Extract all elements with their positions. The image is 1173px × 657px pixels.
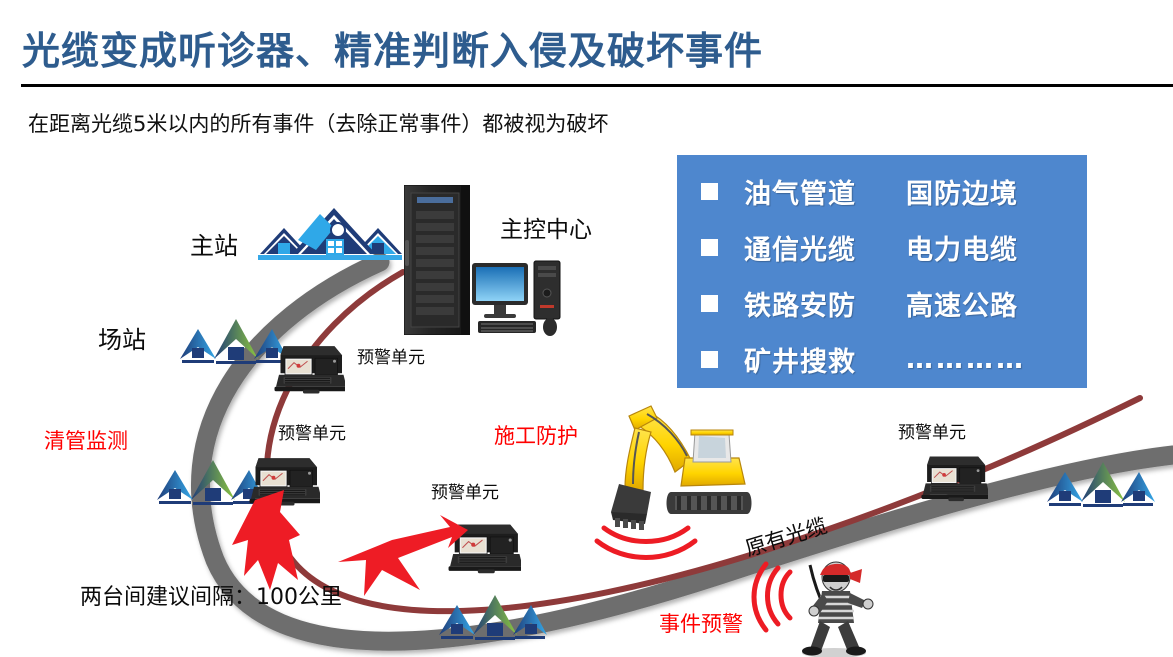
callout-row-2-left: 通信光缆 bbox=[744, 228, 890, 267]
callout-row-2-right: 电力电缆 bbox=[906, 228, 1018, 267]
label-warning-unit-2: 预警单元 bbox=[278, 419, 346, 444]
callout-row-2: 通信光缆 电力电缆 bbox=[677, 221, 1087, 273]
label-construction-protection: 施工防护 bbox=[494, 420, 578, 450]
label-master-station: 主站 bbox=[190, 226, 238, 261]
red-arrow-icon-center bbox=[338, 515, 468, 596]
label-pigging-monitor: 清管监测 bbox=[44, 425, 128, 455]
callout-row-1-left: 油气管道 bbox=[744, 172, 890, 211]
label-event-alarm: 事件预警 bbox=[659, 608, 743, 638]
callout-row-3-left: 铁路安防 bbox=[744, 284, 890, 323]
label-spacing-note: 两台间建议间隔：100公里 bbox=[80, 579, 342, 611]
square-bullet-icon-4 bbox=[701, 351, 718, 368]
callout-row-4-right: ………… bbox=[906, 344, 1026, 375]
square-bullet-icon-3 bbox=[701, 295, 718, 312]
callout-row-1-right: 国防边境 bbox=[906, 172, 1018, 211]
label-warning-unit-1: 预警单元 bbox=[357, 343, 425, 368]
callout-row-4: 矿井搜救 ………… bbox=[677, 333, 1087, 385]
slide-canvas: 光缆变成听诊器、精准判断入侵及破坏事件 在距离光缆5米以内的所有事件（去除正常事… bbox=[0, 0, 1173, 657]
label-warning-unit-4: 预警单元 bbox=[898, 418, 966, 443]
callout-row-1: 油气管道 国防边境 bbox=[677, 165, 1087, 217]
label-field-station: 场站 bbox=[98, 320, 146, 355]
square-bullet-icon-2 bbox=[701, 239, 718, 256]
callout-row-4-left: 矿井搜救 bbox=[744, 340, 890, 379]
industry-applications-callout: 油气管道 国防边境 通信光缆 电力电缆 铁路安防 高速公路 矿井搜救 ………… bbox=[677, 155, 1087, 388]
red-arrow-icon-left bbox=[232, 490, 300, 590]
callout-row-3: 铁路安防 高速公路 bbox=[677, 277, 1087, 329]
callout-row-3-right: 高速公路 bbox=[906, 284, 1018, 323]
label-warning-unit-3: 预警单元 bbox=[431, 478, 499, 503]
label-control-center: 主控中心 bbox=[500, 210, 592, 244]
square-bullet-icon-1 bbox=[701, 183, 718, 200]
